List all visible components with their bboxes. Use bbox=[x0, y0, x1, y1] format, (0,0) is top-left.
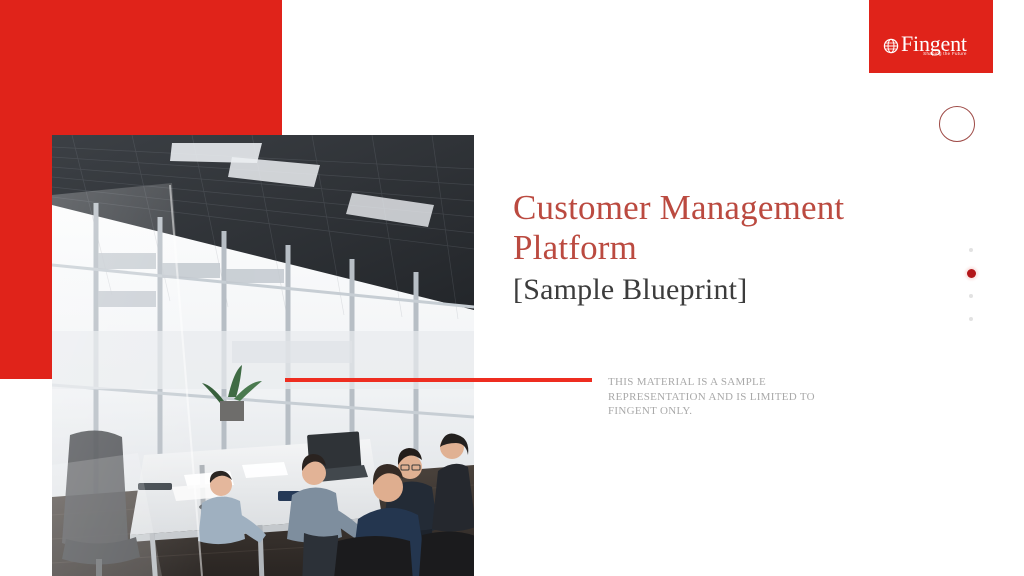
pagination-dots[interactable] bbox=[965, 248, 977, 340]
connector-line bbox=[285, 378, 592, 382]
page-title: Customer Management Platform bbox=[513, 188, 933, 268]
pagination-dot-3[interactable] bbox=[969, 294, 973, 298]
disclaimer-text: THIS MATERIAL IS A SAMPLE REPRESENTATION… bbox=[608, 375, 848, 419]
brand-logo: Fingent Shaping the Future bbox=[883, 32, 967, 56]
pagination-dot-1[interactable] bbox=[969, 248, 973, 252]
pagination-dot-2[interactable] bbox=[967, 269, 976, 278]
title-slide: Customer Management Platform [Sample Blu… bbox=[0, 0, 1024, 576]
pagination-dot-4[interactable] bbox=[969, 317, 973, 321]
globe-icon bbox=[883, 38, 899, 54]
circle-outline-decoration bbox=[939, 106, 975, 142]
hero-photo bbox=[52, 135, 474, 576]
title-block: Customer Management Platform [Sample Blu… bbox=[513, 188, 933, 309]
brand-logo-block: Fingent Shaping the Future bbox=[869, 0, 993, 73]
office-meeting-illustration bbox=[52, 135, 474, 576]
page-subtitle: [Sample Blueprint] bbox=[513, 271, 933, 309]
brand-tagline: Shaping the Future bbox=[923, 51, 967, 57]
